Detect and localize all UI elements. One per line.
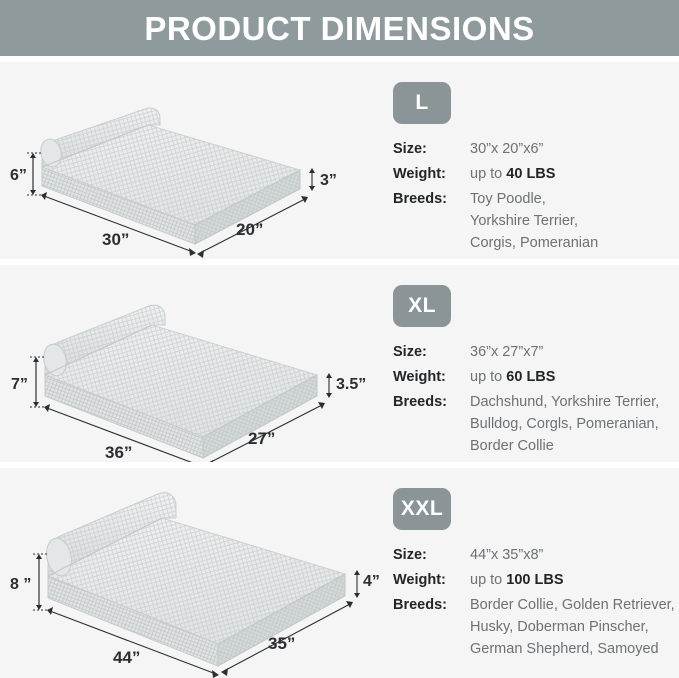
spec-row-size: Size: 36”x 27”x7” bbox=[393, 341, 659, 363]
weight-prefix: up to bbox=[470, 166, 506, 182]
dimension-label-depth: 27” bbox=[248, 429, 275, 448]
dimension-label-length: 30” bbox=[102, 230, 129, 249]
product-illustration-xl: 7” 36” 27” 3.5” bbox=[0, 265, 380, 462]
spec-value-size: 36”x 27”x7” bbox=[470, 341, 543, 363]
product-dimensions-infographic: PRODUCT DIMENSIONS bbox=[0, 0, 679, 678]
dimension-arrow-thickness bbox=[326, 373, 332, 398]
spec-value-weight: up to 60 LBS bbox=[470, 366, 555, 388]
dimension-arrow-height bbox=[33, 554, 49, 610]
size-section-xxl: 8 ” 44” 35” 4” bbox=[0, 468, 679, 678]
dimension-label-depth: 20” bbox=[236, 220, 263, 239]
dimension-arrow-height bbox=[27, 153, 43, 195]
size-badge-xl: XL bbox=[393, 285, 451, 327]
page-title: PRODUCT DIMENSIONS bbox=[144, 12, 534, 45]
spec-row-weight: Weight: up to 100 LBS bbox=[393, 569, 675, 591]
spec-value-weight: up to 40 LBS bbox=[470, 163, 555, 185]
breeds-line: Border Collie bbox=[470, 435, 659, 457]
dimension-label-height: 8 ” bbox=[10, 576, 31, 593]
spec-row-size: Size: 30”x 20”x6” bbox=[393, 138, 598, 160]
spec-block-xxl: XXL Size: 44”x 35”x8” Weight: up to 100 … bbox=[393, 488, 675, 663]
spec-value-breeds: Dachshund, Yorkshire Terrier, Bulldog, C… bbox=[470, 391, 659, 457]
spec-table-xxl: Size: 44”x 35”x8” Weight: up to 100 LBS … bbox=[393, 544, 675, 660]
dimension-arrow-thickness bbox=[309, 168, 315, 191]
spec-row-weight: Weight: up to 60 LBS bbox=[393, 366, 659, 388]
weight-prefix: up to bbox=[470, 369, 506, 385]
spec-label-breeds: Breeds: bbox=[393, 391, 470, 413]
spec-row-breeds: Breeds: Toy Poodle, Yorkshire Terrier, C… bbox=[393, 188, 598, 254]
breeds-line: Bulldog, Corgls, Pomeranian, bbox=[470, 413, 659, 435]
dimension-label-thickness: 4” bbox=[363, 573, 380, 590]
size-section-xl: 7” 36” 27” 3.5” bbox=[0, 265, 679, 462]
spec-label-weight: Weight: bbox=[393, 366, 470, 388]
breeds-line: Yorkshire Terrier, bbox=[470, 210, 598, 232]
weight-value: 100 LBS bbox=[506, 572, 563, 588]
spec-row-breeds: Breeds: Dachshund, Yorkshire Terrier, Bu… bbox=[393, 391, 659, 457]
dimension-label-length: 36” bbox=[105, 443, 132, 462]
spec-label-size: Size: bbox=[393, 341, 470, 363]
spec-value-weight: up to 100 LBS bbox=[470, 569, 564, 591]
spec-label-breeds: Breeds: bbox=[393, 594, 470, 616]
dimension-arrow-height bbox=[30, 357, 46, 407]
weight-value: 40 LBS bbox=[506, 166, 555, 182]
dimension-arrow-thickness bbox=[354, 570, 360, 598]
dimension-label-length: 44” bbox=[113, 648, 140, 667]
size-section-l: 6” 30” 20” bbox=[0, 62, 679, 259]
breeds-line: German Shepherd, Samoyed bbox=[470, 638, 675, 660]
spec-row-breeds: Breeds: Border Collie, Golden Retriever,… bbox=[393, 594, 675, 660]
breeds-line: Husky, Doberman Pinscher, bbox=[470, 616, 675, 638]
spec-value-breeds: Toy Poodle, Yorkshire Terrier, Corgis, P… bbox=[470, 188, 598, 254]
spec-block-l: L Size: 30”x 20”x6” Weight: up to 40 LBS… bbox=[393, 82, 598, 257]
dimension-label-thickness: 3” bbox=[320, 172, 337, 189]
dimension-label-height: 7” bbox=[11, 376, 28, 393]
header-bar: PRODUCT DIMENSIONS bbox=[0, 0, 679, 56]
spec-label-size: Size: bbox=[393, 544, 470, 566]
size-badge-xxl: XXL bbox=[393, 488, 451, 530]
spec-label-breeds: Breeds: bbox=[393, 188, 470, 210]
breeds-line: Corgis, Pomeranian bbox=[470, 232, 598, 254]
spec-label-weight: Weight: bbox=[393, 569, 470, 591]
breeds-line: Border Collie, Golden Retriever, bbox=[470, 594, 675, 616]
dimension-label-thickness: 3.5” bbox=[336, 376, 366, 393]
product-illustration-l: 6” 30” 20” bbox=[0, 62, 380, 259]
spec-table-xl: Size: 36”x 27”x7” Weight: up to 60 LBS B… bbox=[393, 341, 659, 457]
spec-row-size: Size: 44”x 35”x8” bbox=[393, 544, 675, 566]
spec-table-l: Size: 30”x 20”x6” Weight: up to 40 LBS B… bbox=[393, 138, 598, 254]
spec-block-xl: XL Size: 36”x 27”x7” Weight: up to 60 LB… bbox=[393, 285, 659, 460]
breeds-line: Dachshund, Yorkshire Terrier, bbox=[470, 391, 659, 413]
weight-prefix: up to bbox=[470, 572, 506, 588]
spec-label-weight: Weight: bbox=[393, 163, 470, 185]
spec-value-size: 44”x 35”x8” bbox=[470, 544, 543, 566]
spec-value-breeds: Border Collie, Golden Retriever, Husky, … bbox=[470, 594, 675, 660]
size-badge-l: L bbox=[393, 82, 451, 124]
weight-value: 60 LBS bbox=[506, 369, 555, 385]
product-illustration-xxl: 8 ” 44” 35” 4” bbox=[0, 468, 380, 678]
breeds-line: Toy Poodle, bbox=[470, 188, 598, 210]
dimension-label-height: 6” bbox=[10, 167, 27, 184]
spec-label-size: Size: bbox=[393, 138, 470, 160]
spec-row-weight: Weight: up to 40 LBS bbox=[393, 163, 598, 185]
dimension-label-depth: 35” bbox=[268, 634, 295, 653]
spec-value-size: 30”x 20”x6” bbox=[470, 138, 543, 160]
